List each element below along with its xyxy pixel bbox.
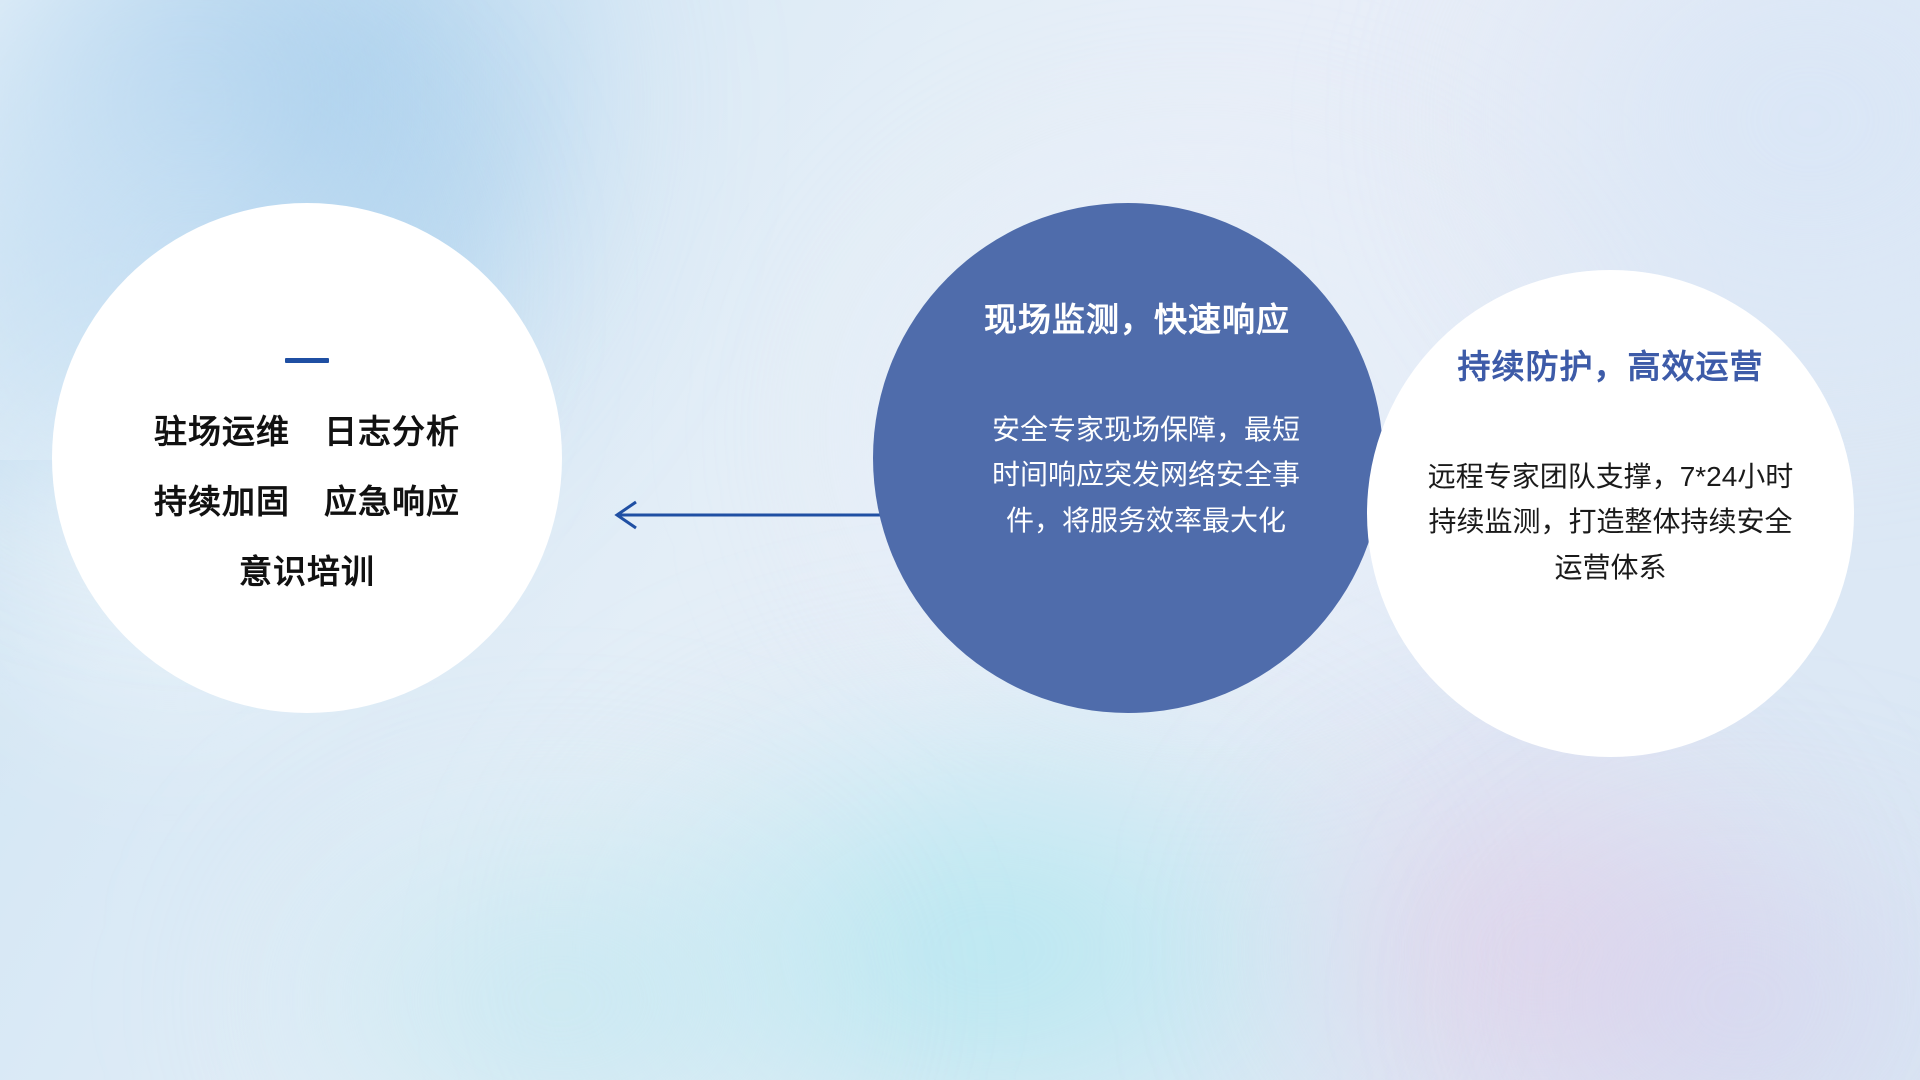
connector-arrow	[600, 480, 910, 550]
keyword-row: 驻场运维 日志分析	[154, 415, 460, 448]
keyword-item: 驻场运维	[154, 415, 290, 448]
left-circle-content: 驻场运维 日志分析 持续加固 应急响应 意识培训	[52, 203, 562, 588]
right-circle-content: 持续防护，高效运营 远程专家团队支撑，7*24小时持续监测，打造整体持续安全运营…	[1367, 270, 1854, 590]
middle-circle-title: 现场监测，快速响应	[984, 301, 1290, 339]
middle-blue-circle: 现场监测，快速响应 安全专家现场保障，最短时间响应突发网络安全事件，将服务效率最…	[873, 203, 1383, 713]
middle-circle-body: 安全专家现场保障，最短时间响应突发网络安全事件，将服务效率最大化	[981, 407, 1311, 543]
right-circle-title: 持续防护，高效运营	[1458, 348, 1764, 386]
right-circle-body: 远程专家团队支撑，7*24小时持续监测，打造整体持续安全运营体系	[1418, 454, 1804, 590]
right-white-circle: 持续防护，高效运营 远程专家团队支撑，7*24小时持续监测，打造整体持续安全运营…	[1367, 270, 1854, 757]
keyword-row: 意识培训	[239, 555, 375, 588]
connector-arrow-icon	[600, 480, 910, 550]
accent-rule-divider	[285, 358, 329, 363]
slide-canvas: 驻场运维 日志分析 持续加固 应急响应 意识培训 现场监测，快速响应 安全专家现…	[0, 0, 1920, 1080]
keyword-item: 持续加固	[154, 485, 290, 518]
middle-circle-content: 现场监测，快速响应 安全专家现场保障，最短时间响应突发网络安全事件，将服务效率最…	[873, 203, 1383, 543]
keyword-row: 持续加固 应急响应	[154, 485, 460, 518]
keyword-item: 应急响应	[324, 485, 460, 518]
left-keyword-circle: 驻场运维 日志分析 持续加固 应急响应 意识培训	[52, 203, 562, 713]
keyword-item: 意识培训	[239, 555, 375, 588]
keyword-item: 日志分析	[324, 415, 460, 448]
